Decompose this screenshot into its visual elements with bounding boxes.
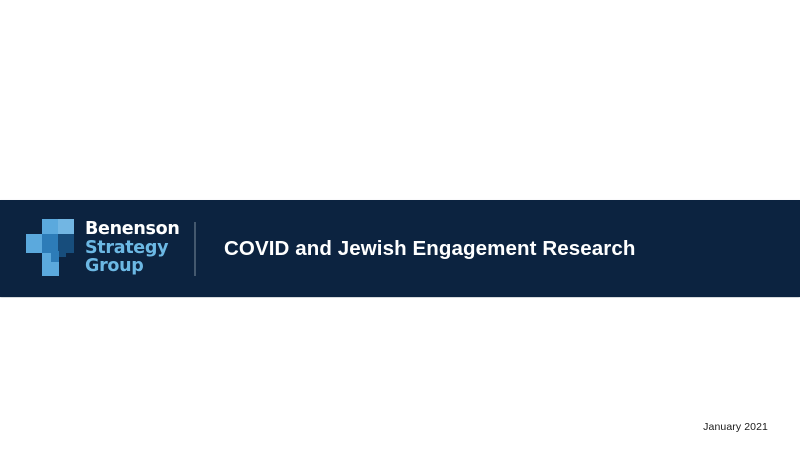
brand-wordmark: Benenson Strategy Group [85, 220, 189, 276]
wordmark-line-group: Group [85, 257, 189, 276]
slide-top-whitespace [0, 0, 800, 200]
brand-logo-lockup[interactable]: Benenson Strategy Group [26, 218, 186, 278]
benenson-strategy-group-logo-mark [26, 219, 74, 276]
date-label: January 2021 [703, 421, 768, 433]
page-title: COVID and Jewish Engagement Research [224, 200, 635, 297]
wordmark-line-benenson: Benenson [85, 220, 189, 239]
logo-title-divider [194, 222, 196, 276]
slide-body-whitespace [0, 298, 800, 450]
title-slide: Benenson Strategy Group COVID and Jewish… [0, 0, 800, 450]
wordmark-line-strategy: Strategy [85, 239, 189, 258]
